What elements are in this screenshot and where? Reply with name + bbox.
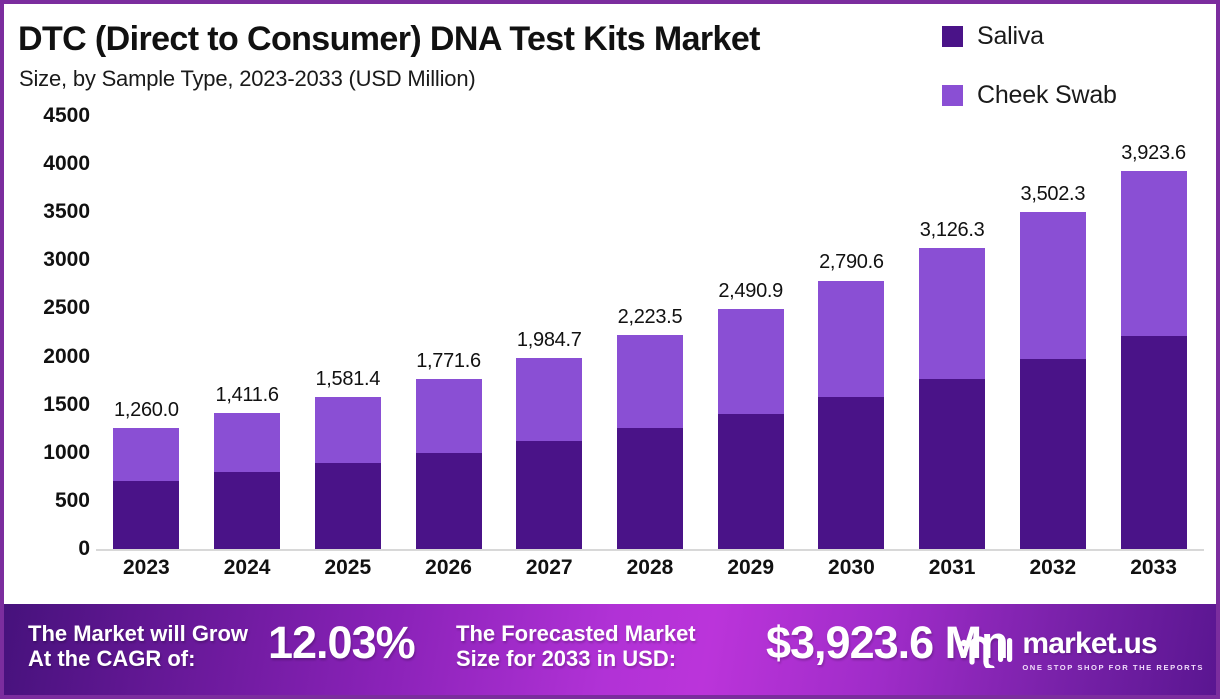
bar-stack [315, 397, 381, 549]
page-subtitle: Size, by Sample Type, 2023-2033 (USD Mil… [19, 66, 475, 92]
cagr-label: The Market will Grow At the CAGR of: [28, 622, 248, 671]
bar-segment-saliva[interactable] [516, 441, 582, 549]
bar-total-label: 1,581.4 [315, 368, 380, 391]
bar-segment-cheek-swab[interactable] [1121, 171, 1187, 335]
bar-total-label: 2,223.5 [618, 306, 683, 329]
x-axis-label: 2031 [919, 556, 985, 580]
bar-total-label: 1,771.6 [416, 350, 481, 373]
bar-column[interactable]: 3,923.6 [1121, 116, 1187, 549]
logo-tagline: ONE STOP SHOP FOR THE REPORTS [1022, 663, 1204, 672]
y-axis-tick: 2000 [12, 345, 90, 369]
bar-segment-saliva[interactable] [818, 397, 884, 549]
y-axis-tick: 500 [12, 489, 90, 513]
legend-swatch-cheek-swab [942, 85, 963, 106]
chart-infographic: DTC (Direct to Consumer) DNA Test Kits M… [0, 0, 1220, 699]
x-axis-baseline [96, 549, 1204, 551]
logo-text: market.us ONE STOP SHOP FOR THE REPORTS [1022, 629, 1204, 672]
bar-segment-saliva[interactable] [214, 472, 280, 549]
y-axis-tick: 3500 [12, 200, 90, 224]
bar-segment-cheek-swab[interactable] [516, 358, 582, 441]
bar-column[interactable]: 1,581.4 [315, 116, 381, 549]
y-axis-tick: 3000 [12, 248, 90, 272]
logo-wordmark: market.us [1022, 629, 1204, 659]
x-axis-label: 2026 [416, 556, 482, 580]
bar-total-label: 2,490.9 [718, 280, 783, 303]
cagr-label-line1: The Market will Grow [28, 621, 248, 646]
bar-segment-saliva[interactable] [315, 463, 381, 549]
y-axis-tick: 1000 [12, 441, 90, 465]
bar-column[interactable]: 2,223.5 [617, 116, 683, 549]
bar-series-group: 1,260.01,411.61,581.41,771.61,984.72,223… [96, 116, 1204, 549]
bar-segment-saliva[interactable] [416, 453, 482, 549]
x-axis-label: 2028 [617, 556, 683, 580]
x-axis-label: 2027 [516, 556, 582, 580]
y-axis-tick: 1500 [12, 393, 90, 417]
x-axis-label: 2023 [113, 556, 179, 580]
x-axis-label: 2025 [315, 556, 381, 580]
logo-mark-icon [958, 632, 1014, 668]
bar-segment-saliva[interactable] [1121, 336, 1187, 549]
y-axis: 450040003500300025002000150010005000 [4, 116, 90, 556]
chart-plot-area: 450040003500300025002000150010005000 1,2… [4, 116, 1216, 606]
bar-stack [718, 309, 784, 549]
bar-segment-cheek-swab[interactable] [214, 413, 280, 472]
legend-label-cheek-swab: Cheek Swab [977, 81, 1117, 110]
y-axis-tick: 4500 [12, 104, 90, 128]
legend-label-saliva: Saliva [977, 22, 1044, 51]
bar-stack [516, 358, 582, 549]
bar-segment-cheek-swab[interactable] [315, 397, 381, 463]
bar-column[interactable]: 1,771.6 [416, 116, 482, 549]
bar-stack [214, 413, 280, 549]
bar-segment-saliva[interactable] [1020, 359, 1086, 549]
bar-column[interactable]: 1,411.6 [214, 116, 280, 549]
bar-segment-cheek-swab[interactable] [113, 428, 179, 481]
bar-column[interactable]: 1,984.7 [516, 116, 582, 549]
bar-stack [818, 281, 884, 550]
bar-segment-saliva[interactable] [113, 481, 179, 550]
legend-swatch-saliva [942, 26, 963, 47]
forecast-label: The Forecasted Market Size for 2033 in U… [456, 622, 696, 671]
bar-column[interactable]: 3,502.3 [1020, 116, 1086, 549]
x-axis-label: 2033 [1121, 556, 1187, 580]
bar-segment-cheek-swab[interactable] [617, 335, 683, 428]
bar-segment-cheek-swab[interactable] [718, 309, 784, 413]
bar-total-label: 1,984.7 [517, 329, 582, 352]
bar-total-label: 3,126.3 [920, 219, 985, 242]
bar-segment-cheek-swab[interactable] [919, 248, 985, 379]
bar-total-label: 2,790.6 [819, 251, 884, 274]
bar-stack [113, 428, 179, 549]
bar-stack [416, 379, 482, 549]
page-title: DTC (Direct to Consumer) DNA Test Kits M… [18, 20, 760, 59]
market-us-logo[interactable]: market.us ONE STOP SHOP FOR THE REPORTS [958, 622, 1204, 678]
cagr-label-line2: At the CAGR of: [28, 646, 195, 671]
bar-column[interactable]: 1,260.0 [113, 116, 179, 549]
bar-stack [617, 335, 683, 549]
bar-column[interactable]: 2,490.9 [718, 116, 784, 549]
bar-segment-cheek-swab[interactable] [818, 281, 884, 398]
bar-segment-cheek-swab[interactable] [416, 379, 482, 453]
bar-column[interactable]: 3,126.3 [919, 116, 985, 549]
y-axis-tick: 2500 [12, 296, 90, 320]
y-axis-tick: 0 [12, 537, 90, 561]
bar-total-label: 1,260.0 [114, 399, 179, 422]
summary-banner: The Market will Grow At the CAGR of: 12.… [4, 604, 1216, 695]
y-axis-tick: 4000 [12, 152, 90, 176]
bar-stack [1020, 212, 1086, 549]
x-axis-labels: 2023202420252026202720282029203020312032… [96, 556, 1204, 596]
legend-item-cheek-swab[interactable]: Cheek Swab [942, 81, 1172, 110]
x-axis-label: 2024 [214, 556, 280, 580]
bar-total-label: 1,411.6 [216, 384, 279, 407]
bar-stack [919, 248, 985, 549]
bar-segment-saliva[interactable] [919, 379, 985, 549]
x-axis-label: 2032 [1020, 556, 1086, 580]
bar-segment-saliva[interactable] [718, 414, 784, 549]
forecast-label-line1: The Forecasted Market [456, 621, 696, 646]
bar-column[interactable]: 2,790.6 [818, 116, 884, 549]
x-axis-label: 2030 [818, 556, 884, 580]
legend-item-saliva[interactable]: Saliva [942, 22, 1172, 51]
bar-total-label: 3,923.6 [1121, 142, 1186, 165]
bar-total-label: 3,502.3 [1021, 183, 1086, 206]
bar-segment-saliva[interactable] [617, 428, 683, 549]
forecast-label-line2: Size for 2033 in USD: [456, 646, 676, 671]
cagr-value: 12.03% [268, 618, 415, 668]
bar-segment-cheek-swab[interactable] [1020, 212, 1086, 359]
x-axis-label: 2029 [718, 556, 784, 580]
bar-stack [1121, 171, 1187, 549]
